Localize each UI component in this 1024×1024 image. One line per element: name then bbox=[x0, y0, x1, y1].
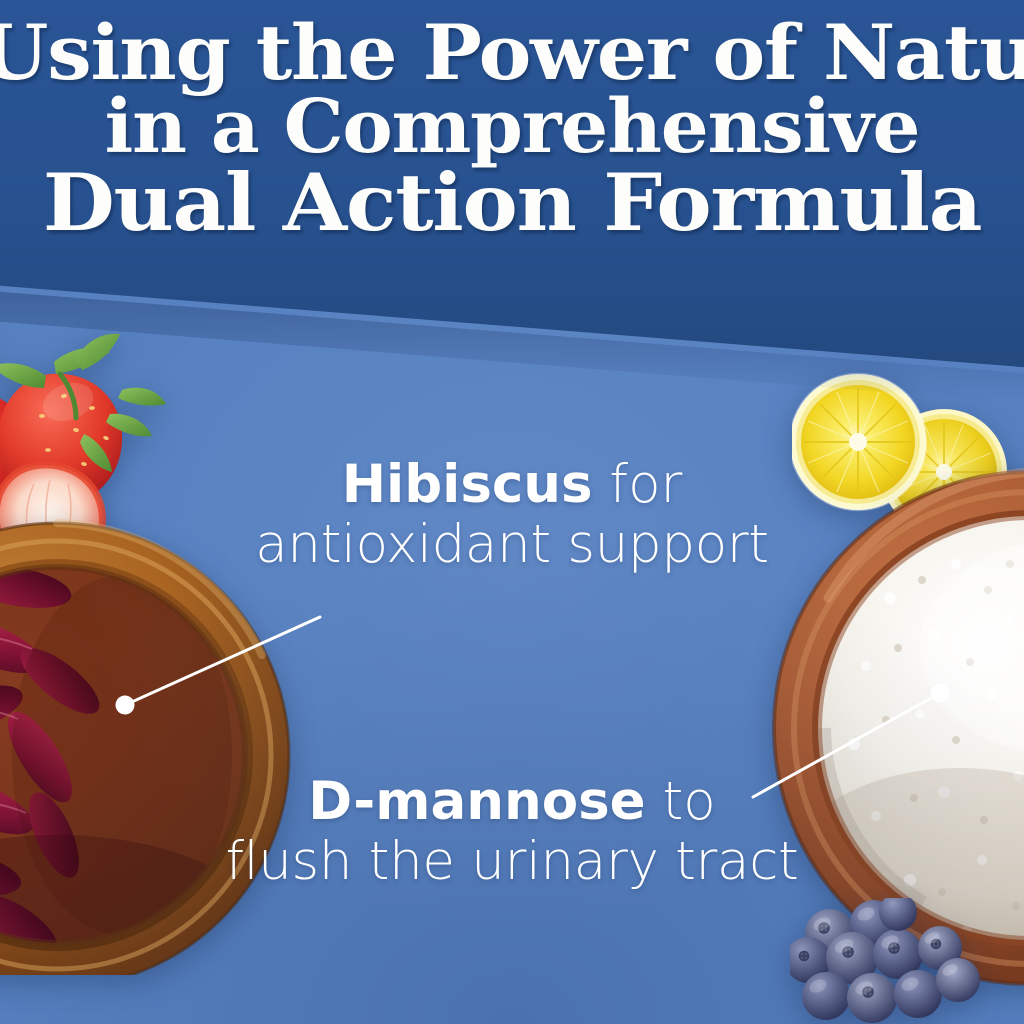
title-line-2: in a Comprehensive bbox=[0, 91, 1024, 164]
callout-hibiscus-line1: Hibiscus for bbox=[0, 455, 1024, 515]
title-line-1: Using the Power of Nature bbox=[0, 16, 1024, 91]
callout-mannose-rest: to bbox=[646, 771, 716, 832]
page-title: Using the Power of Nature in a Comprehen… bbox=[0, 16, 1024, 242]
promo-graphic: Using the Power of Nature in a Comprehen… bbox=[0, 0, 1024, 1024]
title-line-3: Dual Action Formula bbox=[0, 164, 1024, 242]
callout-mannose-line1: D-mannose to bbox=[0, 772, 1024, 832]
callout-mannose: D-mannose to flush the urinary tract bbox=[0, 772, 1024, 893]
callout-hibiscus: Hibiscus for antioxidant support bbox=[0, 455, 1024, 576]
callout-mannose-line2: flush the urinary tract bbox=[0, 832, 1024, 892]
callout-hibiscus-rest: for bbox=[593, 454, 683, 515]
callout-mannose-lead: D-mannose bbox=[308, 771, 645, 832]
callout-hibiscus-lead: Hibiscus bbox=[342, 454, 593, 515]
callout-hibiscus-line2: antioxidant support bbox=[0, 515, 1024, 575]
